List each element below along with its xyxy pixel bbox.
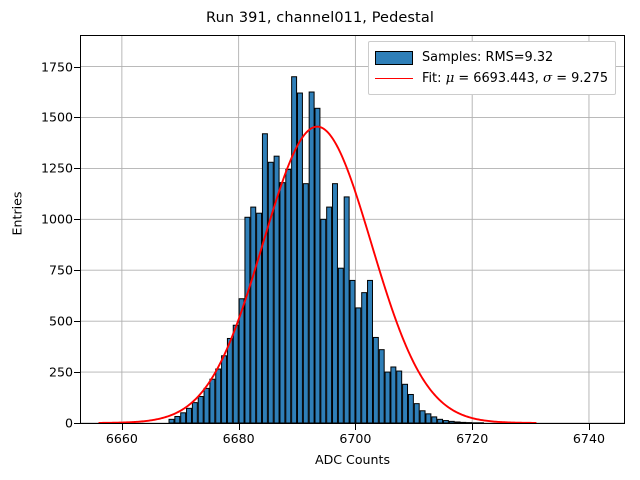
histogram-bar xyxy=(438,419,443,423)
histogram-bar xyxy=(356,308,361,423)
histogram-bar xyxy=(362,293,367,423)
histogram-bar xyxy=(403,384,408,423)
histogram-bar xyxy=(321,219,326,423)
histogram-bar xyxy=(420,411,425,423)
figure-canvas: Run 391, channel011, Pedestal 0250500750… xyxy=(0,0,640,480)
histogram-bar xyxy=(169,419,174,423)
legend-item-samples: Samples: RMS=9.32 xyxy=(375,47,608,68)
histogram-bar xyxy=(303,184,308,423)
histogram-bar xyxy=(461,422,466,423)
histogram-bar xyxy=(379,350,384,423)
histogram-bar xyxy=(198,397,203,423)
histogram-bar xyxy=(280,183,285,423)
x-tick-mark xyxy=(355,424,356,430)
histogram-bar xyxy=(192,403,197,423)
histogram-bar xyxy=(268,162,273,423)
x-tick-mark xyxy=(472,424,473,430)
histogram-bar xyxy=(227,338,232,423)
histogram-bar xyxy=(344,197,349,423)
x-tick-mark xyxy=(589,424,590,430)
histogram-bar xyxy=(333,184,338,423)
histogram-bar xyxy=(286,169,291,423)
y-tick-mark xyxy=(74,67,80,68)
histogram-bar xyxy=(426,414,431,423)
x-axis-label: ADC Counts xyxy=(80,452,625,467)
y-tick-mark xyxy=(74,270,80,271)
y-tick-mark xyxy=(74,321,80,322)
histogram-bar xyxy=(455,422,460,423)
histogram-bar xyxy=(222,356,227,423)
histogram-bar xyxy=(414,404,419,423)
y-tick-mark xyxy=(74,117,80,118)
histogram-bar xyxy=(443,421,448,423)
histogram-bar xyxy=(204,388,209,423)
histogram-bar xyxy=(175,416,180,423)
x-tick-marks xyxy=(80,424,625,432)
histogram-bar xyxy=(368,280,373,423)
histogram-bar xyxy=(251,207,256,423)
legend-line-swatch xyxy=(375,72,413,86)
y-tick-mark xyxy=(74,219,80,220)
histogram-bar xyxy=(327,207,332,423)
x-tick-label: 6660 xyxy=(82,431,162,446)
y-tick-mark xyxy=(74,168,80,169)
histogram-bar xyxy=(397,371,402,423)
histogram-bar xyxy=(216,369,221,423)
chart-legend: Samples: RMS=9.32 Fit: μ = 6693.443, σ =… xyxy=(368,41,616,95)
y-axis-label: Entries xyxy=(10,164,25,264)
x-tick-mark xyxy=(122,424,123,430)
legend-label-samples: Samples: RMS=9.32 xyxy=(422,50,553,65)
histogram-bar xyxy=(449,421,454,423)
histogram-bar xyxy=(385,372,390,423)
x-tick-label: 6740 xyxy=(549,431,629,446)
histogram-bar xyxy=(373,337,378,423)
histogram-bar xyxy=(350,280,355,423)
chart-title: Run 391, channel011, Pedestal xyxy=(0,10,640,26)
legend-item-fit: Fit: μ = 6693.443, σ = 9.275 xyxy=(375,68,608,89)
x-tick-mark xyxy=(239,424,240,430)
histogram-bar xyxy=(432,417,437,423)
histogram-bar xyxy=(391,367,396,423)
histogram-bar xyxy=(233,325,238,423)
histogram-bar xyxy=(408,394,413,423)
histogram-bar xyxy=(245,217,250,423)
legend-patch-swatch xyxy=(375,51,413,65)
histogram-bar xyxy=(315,108,320,423)
histogram-bar xyxy=(210,379,215,423)
x-tick-label: 6720 xyxy=(432,431,512,446)
y-tick-mark xyxy=(74,372,80,373)
legend-label-fit: Fit: μ = 6693.443, σ = 9.275 xyxy=(422,71,608,86)
x-tick-label: 6700 xyxy=(315,431,395,446)
histogram-bar xyxy=(338,268,343,423)
histogram-bar xyxy=(257,213,262,423)
histogram-bar xyxy=(309,92,314,423)
x-tick-labels: 66606680670067206740 xyxy=(80,431,625,451)
histogram-bar xyxy=(181,413,186,423)
histogram-bar xyxy=(262,134,267,423)
histogram-bar xyxy=(187,408,192,423)
x-tick-label: 6680 xyxy=(199,431,279,446)
histogram-bar xyxy=(292,77,297,423)
